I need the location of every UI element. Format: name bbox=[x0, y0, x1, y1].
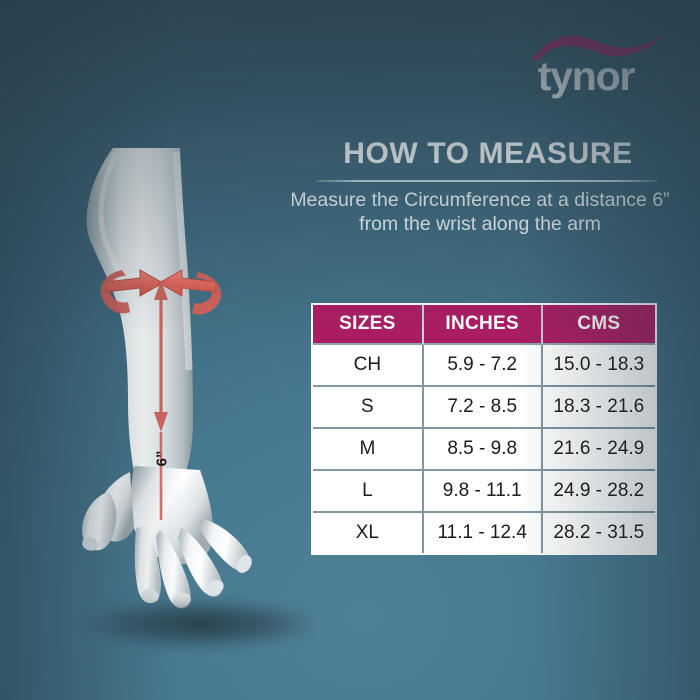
brand-name: tynor bbox=[498, 56, 674, 97]
cell-inches: 11.1 - 12.4 bbox=[424, 513, 543, 553]
table-row: XL 11.1 - 12.4 28.2 - 31.5 bbox=[313, 513, 655, 553]
mannequin-arm-illustration: 6” bbox=[30, 120, 310, 640]
page-title: HOW TO MEASURE bbox=[300, 137, 676, 171]
title-divider bbox=[316, 180, 658, 182]
column-header-sizes: SIZES bbox=[313, 305, 424, 345]
cell-cms: 28.2 - 31.5 bbox=[543, 513, 655, 553]
measure-distance-label: 6” bbox=[153, 451, 170, 467]
page-subtitle: Measure the Circumference at a distance … bbox=[280, 188, 680, 236]
cell-size: CH bbox=[313, 345, 424, 387]
table-header-row: SIZES INCHES CMS bbox=[313, 305, 655, 345]
table-row: M 8.5 - 9.8 21.6 - 24.9 bbox=[313, 429, 655, 471]
cell-inches: 8.5 - 9.8 bbox=[424, 429, 543, 471]
cell-cms: 24.9 - 28.2 bbox=[543, 471, 655, 513]
cell-inches: 7.2 - 8.5 bbox=[424, 387, 543, 429]
column-header-cms: CMS bbox=[543, 305, 655, 345]
cell-cms: 18.3 - 21.6 bbox=[543, 387, 655, 429]
cell-size: S bbox=[313, 387, 424, 429]
cell-size: M bbox=[313, 429, 424, 471]
cell-inches: 9.8 - 11.1 bbox=[424, 471, 543, 513]
table-row: L 9.8 - 11.1 24.9 - 28.2 bbox=[313, 471, 655, 513]
cell-inches: 5.9 - 7.2 bbox=[424, 345, 543, 387]
table-row: CH 5.9 - 7.2 15.0 - 18.3 bbox=[313, 345, 655, 387]
column-header-inches: INCHES bbox=[424, 305, 543, 345]
cell-cms: 21.6 - 24.9 bbox=[543, 429, 655, 471]
drop-shadow bbox=[85, 600, 315, 648]
brand-logo: tynor bbox=[498, 30, 674, 110]
cell-size: L bbox=[313, 471, 424, 513]
size-chart-infographic: tynor HOW TO MEASURE Measure the Circumf… bbox=[0, 0, 700, 700]
size-chart-table: SIZES INCHES CMS CH 5.9 - 7.2 15.0 - 18.… bbox=[313, 305, 655, 553]
cell-size: XL bbox=[313, 513, 424, 553]
table-row: S 7.2 - 8.5 18.3 - 21.6 bbox=[313, 387, 655, 429]
arm-graphic bbox=[30, 120, 310, 640]
cell-cms: 15.0 - 18.3 bbox=[543, 345, 655, 387]
